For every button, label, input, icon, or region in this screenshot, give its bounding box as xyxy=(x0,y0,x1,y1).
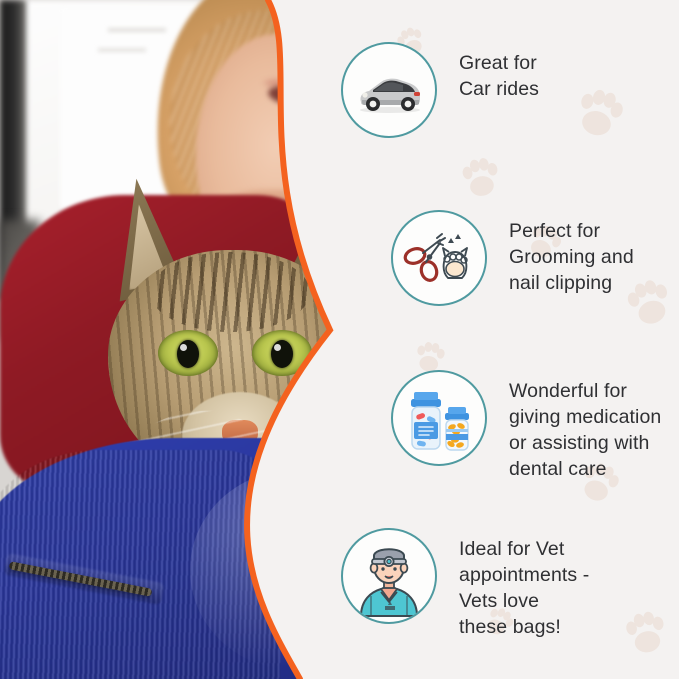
feature-row-car-rides: Great for Car rides xyxy=(341,42,539,138)
veterinarian-icon xyxy=(341,528,437,624)
medicine-bottles-icon xyxy=(391,370,487,466)
feature-label-grooming: Perfect for Grooming and nail clipping xyxy=(509,210,634,296)
feature-label-car-rides: Great for Car rides xyxy=(459,42,539,102)
infographic-root: Great for Car rides xyxy=(0,0,679,679)
feature-row-medication: Wonderful for giving medication or assis… xyxy=(391,370,661,482)
nail-clippers-paw-icon xyxy=(391,210,487,306)
feature-row-vet: Ideal for Vet appointments - Vets love t… xyxy=(341,528,589,640)
feature-row-grooming: Perfect for Grooming and nail clipping xyxy=(391,210,634,306)
feature-label-vet: Ideal for Vet appointments - Vets love t… xyxy=(459,528,589,640)
feature-label-medication: Wonderful for giving medication or assis… xyxy=(509,370,661,482)
car-icon xyxy=(341,42,437,138)
